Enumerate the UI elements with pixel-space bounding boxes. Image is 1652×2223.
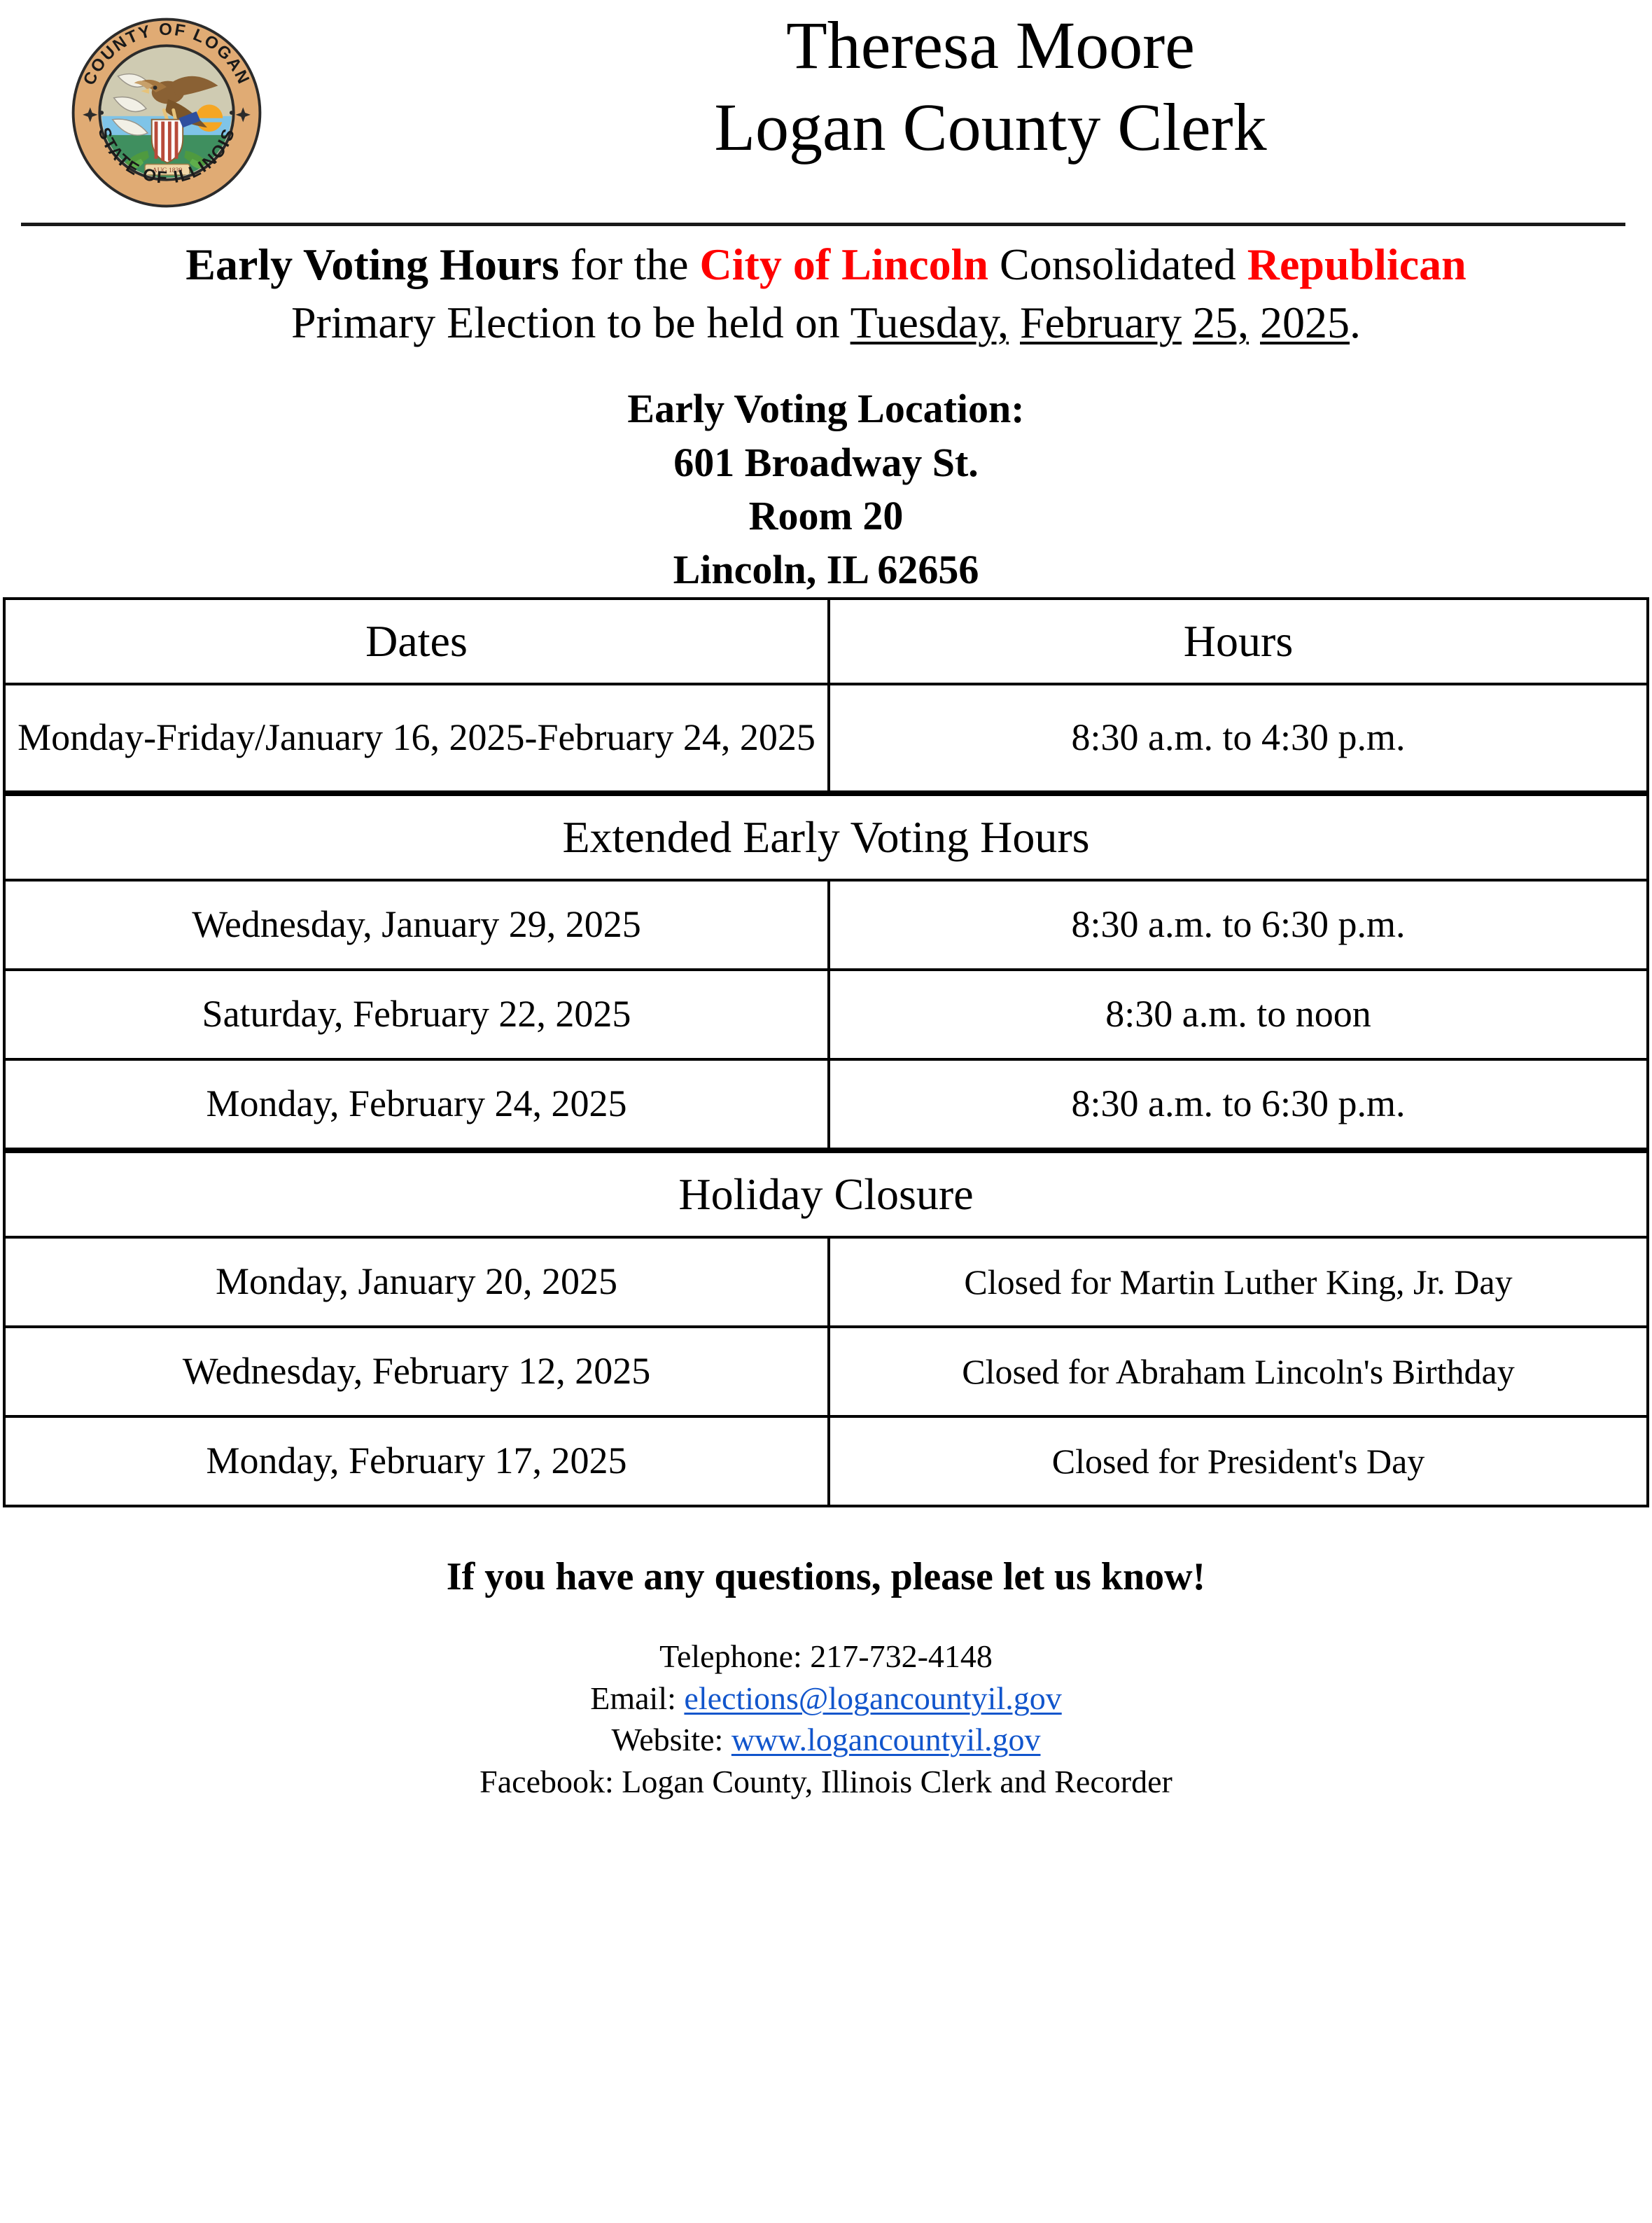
intro-date-year: 2025 [1260,298,1350,347]
cell-hours: 8:30 a.m. to 6:30 p.m. [829,1059,1648,1149]
cell-hours: 8:30 a.m. to noon [829,970,1648,1059]
header-divider-rule [21,223,1625,226]
cell-reason: Closed for President's Day [829,1416,1648,1506]
intro-paragraph: Early Voting Hours for the City of Linco… [0,210,1652,351]
website-label: Website: [612,1722,731,1757]
location-heading: Early Voting Location: [0,382,1652,436]
cell-hours: 8:30 a.m. to 6:30 p.m. [829,880,1648,970]
cell-date: Monday, February 24, 2025 [4,1059,829,1149]
telephone-value: 217-732-4148 [810,1638,993,1674]
table-row: Monday-Friday/January 16, 2025-February … [4,684,1648,792]
facebook-line: Facebook: Logan County, Illinois Clerk a… [0,1761,1652,1803]
intro-for-the: for the [559,239,700,289]
table-header-row: Holiday Closure [4,1152,1648,1237]
intro-date-day: 25, [1193,298,1249,347]
table-row: Monday, February 24, 2025 8:30 a.m. to 6… [4,1059,1648,1149]
header-title-block: Theresa Moore Logan County Clerk [392,4,1589,168]
questions-line: If you have any questions, please let us… [0,1554,1652,1601]
email-label: Email: [590,1680,684,1716]
telephone-line: Telephone: 217-732-4148 [0,1636,1652,1678]
cell-reason: Closed for Abraham Lincoln's Birthday [829,1327,1648,1416]
location-room: Room 20 [0,489,1652,543]
intro-early-voting-hours: Early Voting Hours [185,239,559,289]
website-line: Website: www.logancountyil.gov [0,1719,1652,1761]
table-row: Monday, January 20, 2025 Closed for Mart… [4,1237,1648,1327]
holiday-table-title: Holiday Closure [4,1152,1648,1237]
cell-date: Wednesday, January 29, 2025 [4,880,829,970]
intro-date-weekday: Tuesday, [850,298,1009,347]
cell-date: Wednesday, February 12, 2025 [4,1327,829,1416]
intro-middle: Primary Election to be held on [291,298,850,347]
telephone-label: Telephone: [659,1638,810,1674]
cell-date: Monday, January 20, 2025 [4,1237,829,1327]
intro-period: . [1350,298,1361,347]
cell-hours: 8:30 a.m. to 4:30 p.m. [829,684,1648,792]
email-link[interactable]: elections@logancountyil.gov [684,1680,1061,1716]
document-header: AUG 1839 COUNTY OF LOGAN STATE OF ILLINO… [0,0,1652,210]
document-page: AUG 1839 COUNTY OF LOGAN STATE OF ILLINO… [0,0,1652,2223]
website-link[interactable]: www.logancountyil.gov [731,1722,1041,1757]
location-city-state-zip: Lincoln, IL 62656 [0,543,1652,597]
table-row: Saturday, February 22, 2025 8:30 a.m. to… [4,970,1648,1059]
intro-party: Republican [1247,239,1466,289]
official-name: Theresa Moore [392,4,1589,86]
early-voting-location-block: Early Voting Location: 601 Broadway St. … [0,351,1652,597]
contact-block: Telephone: 217-732-4148 Email: elections… [0,1601,1652,1803]
facebook-value: Logan County, Illinois Clerk and Recorde… [622,1764,1172,1799]
official-title: Logan County Clerk [392,86,1589,168]
intro-consolidated: Consolidated [988,239,1247,289]
holiday-closure-table: Holiday Closure Monday, January 20, 2025… [3,1150,1649,1507]
cell-date: Saturday, February 22, 2025 [4,970,829,1059]
cell-reason: Closed for Martin Luther King, Jr. Day [829,1237,1648,1327]
intro-date-month: February [1020,298,1182,347]
cell-dates: Monday-Friday/January 16, 2025-February … [4,684,829,792]
email-line: Email: elections@logancountyil.gov [0,1678,1652,1720]
table-header-row: Extended Early Voting Hours [4,795,1648,880]
document-footer: If you have any questions, please let us… [0,1507,1652,1803]
table-row: Wednesday, February 12, 2025 Closed for … [4,1327,1648,1416]
table-row: Wednesday, January 29, 2025 8:30 a.m. to… [4,880,1648,970]
extended-early-voting-hours-table: Extended Early Voting Hours Wednesday, J… [3,793,1649,1150]
cell-date: Monday, February 17, 2025 [4,1416,829,1506]
table-row: Monday, February 17, 2025 Closed for Pre… [4,1416,1648,1506]
column-header-hours: Hours [829,599,1648,684]
column-header-dates: Dates [4,599,829,684]
logan-county-illinois-seal-icon: AUG 1839 COUNTY OF LOGAN STATE OF ILLINO… [62,11,272,214]
extended-table-title: Extended Early Voting Hours [4,795,1648,880]
early-voting-hours-table: Dates Hours Monday-Friday/January 16, 20… [3,597,1649,793]
location-street: 601 Broadway St. [0,436,1652,490]
facebook-label: Facebook: [479,1764,622,1799]
table-header-row: Dates Hours [4,599,1648,684]
intro-city: City of Lincoln [700,239,988,289]
